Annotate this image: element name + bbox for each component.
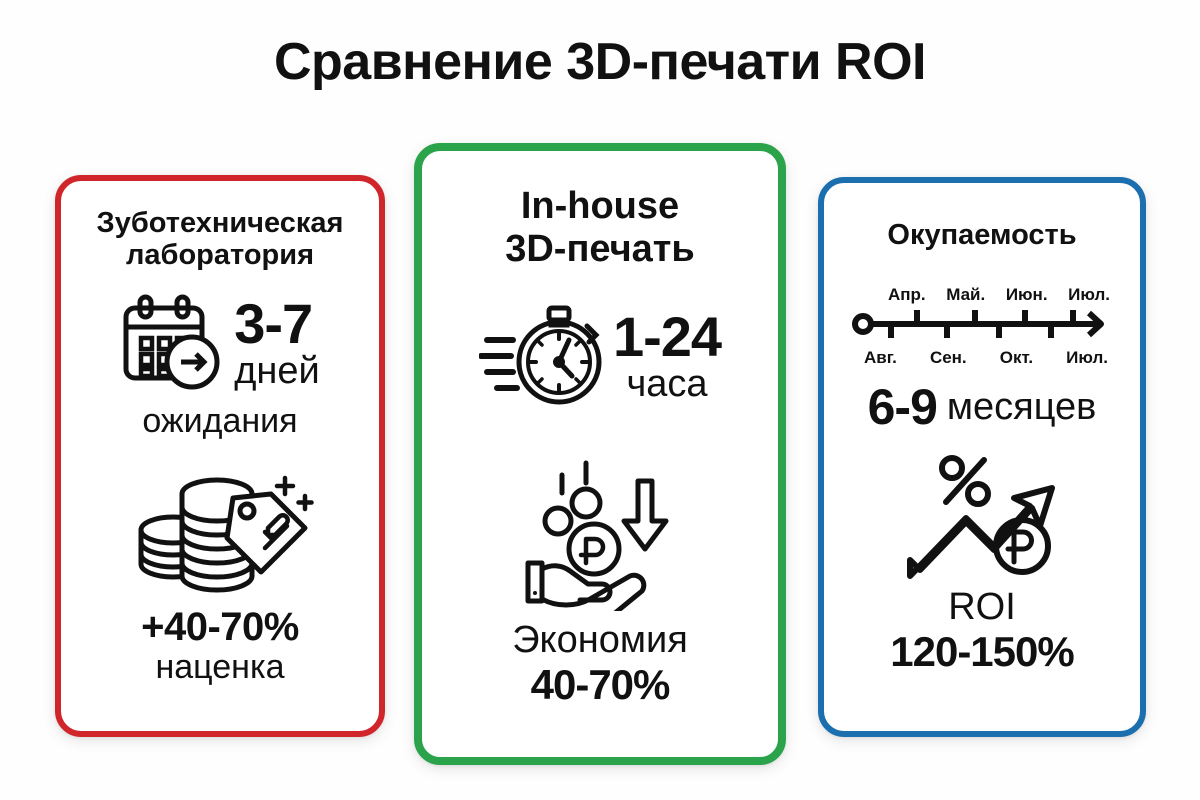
timeline-label-bottom-1: Сен. [930, 348, 967, 368]
timeline-label-top-2: Июн. [1006, 285, 1048, 305]
roi-caption: ROI [948, 587, 1016, 629]
hand-coins-down-arrow-icon [510, 451, 690, 616]
block-roi: ROI 120-150% [824, 450, 1140, 675]
card-title-inhouse-line1: In-house [505, 185, 695, 228]
waiting-time-value-group: 3-7 дней [234, 297, 320, 392]
payback-period-unit: месяцев [947, 388, 1097, 428]
card-title-inhouse: In-house 3D-печать [497, 185, 703, 270]
timeline-label-top-1: Май. [946, 285, 985, 305]
waiting-time-unit: дней [234, 352, 320, 392]
print-time-unit: часа [626, 365, 707, 405]
timeline-labels-bottom: Авг. Сен. Окт. Июл. [856, 348, 1108, 368]
block-waiting-time: 3-7 дней ожидания [61, 294, 379, 440]
savings-caption: Экономия [512, 620, 688, 662]
block-markup: +40-70% наценка [61, 466, 379, 686]
waiting-time-caption: ожидания [142, 403, 297, 440]
card-title-payback: Окупаемость [879, 219, 1084, 251]
roi-value: 120-150% [890, 629, 1073, 675]
markup-caption: наценка [156, 649, 285, 686]
block-print-time: 1-24 часа [422, 300, 778, 415]
growth-percent-ruble-icon [902, 450, 1062, 587]
savings-value: 40-70% [531, 662, 670, 708]
print-time-value-group: 1-24 часа [613, 310, 721, 405]
timeline-label-bottom-2: Окт. [1000, 348, 1033, 368]
timeline-label-bottom-0: Авг. [864, 348, 897, 368]
card-dental-lab: Зуботехническая лаборатория [55, 175, 385, 737]
infographic-page: Сравнение 3D-печати ROI Зуботехническая … [0, 0, 1200, 800]
timeline-label-bottom-3: Июл. [1066, 348, 1108, 368]
timeline: Апр. Май. Июн. Июл. [824, 285, 1140, 368]
card-title-dental-lab: Зуботехническая лаборатория [61, 207, 379, 272]
timeline-arrow-icon [851, 305, 1113, 348]
print-time-value: 1-24 [613, 310, 721, 365]
coins-price-tag-icon [125, 466, 315, 601]
stopwatch-icon [479, 300, 607, 415]
timeline-label-top-0: Апр. [888, 285, 926, 305]
page-title: Сравнение 3D-печати ROI [0, 32, 1200, 92]
calendar-arrow-icon [120, 294, 224, 395]
timeline-labels-top: Апр. Май. Июн. Июл. [858, 285, 1110, 305]
card-inhouse-printing: In-house 3D-печать [414, 143, 786, 765]
card-title-inhouse-line2: 3D-печать [505, 228, 695, 271]
block-payback-period: Апр. Май. Июн. Июл. [824, 285, 1140, 432]
waiting-time-value: 3-7 [234, 297, 312, 352]
card-payback: Окупаемость Апр. Май. Июн. Июл. [818, 177, 1146, 737]
block-savings: Экономия 40-70% [422, 451, 778, 708]
payback-period-value: 6-9 [868, 382, 937, 432]
markup-value: +40-70% [141, 605, 299, 649]
timeline-label-top-3: Июл. [1068, 285, 1110, 305]
